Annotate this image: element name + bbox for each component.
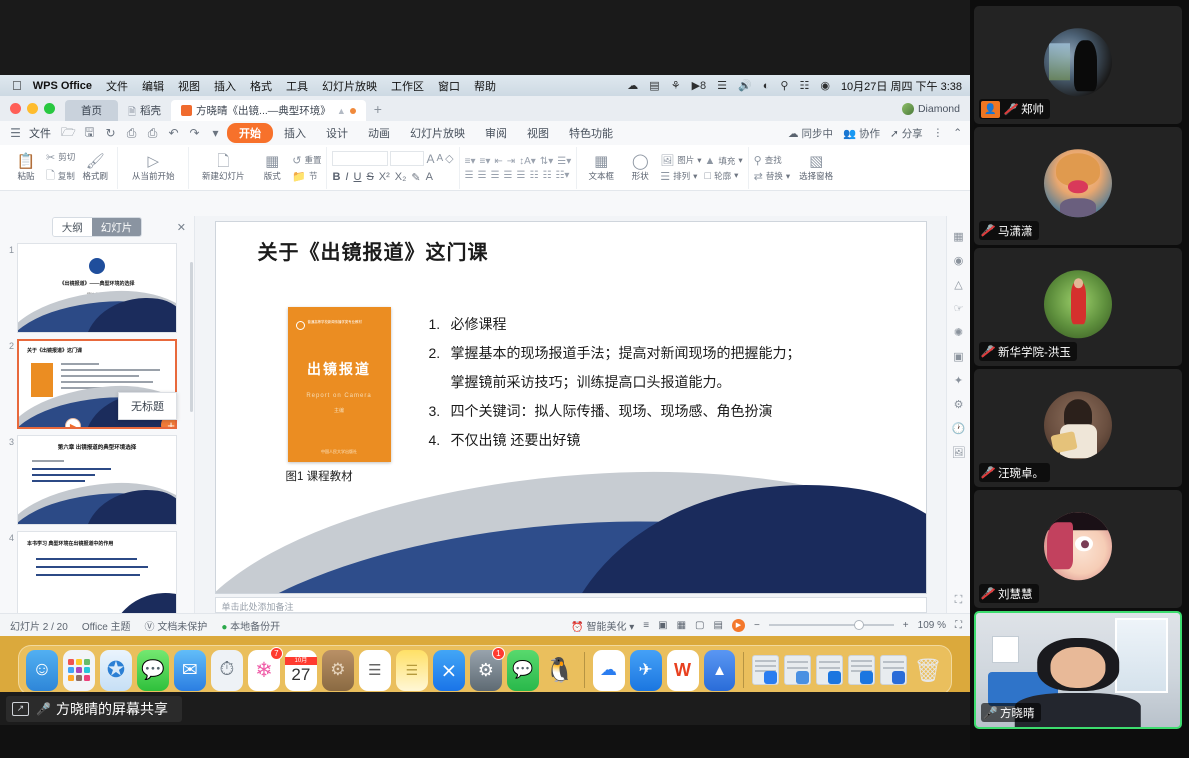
slide-number: 2 [4,339,14,429]
tencent-meeting-icon[interactable]: ▲ [704,650,736,691]
menubar-item-view[interactable]: 视图 [178,78,200,94]
new-slide-icon: 🗋 [217,154,229,169]
reset-label: 重置 [304,154,321,166]
brush-icon: 🖌 [86,154,105,169]
play-icon[interactable]: ▶ [65,418,81,429]
volume-icon[interactable]: 🔊 [738,79,752,92]
tab-outline[interactable]: 大纲 [53,218,92,236]
calendar-icon[interactable]: 10月 27 [285,650,317,691]
microphone-on-icon: 🎤 [983,706,996,720]
section-icon: 📁 [292,170,306,183]
redo-icon[interactable]: ↷ [185,126,204,140]
from-current-slide-button[interactable]: ▷ 从当前开始 [123,154,183,182]
slide-count-label: 幻灯片 2 / 20 [10,618,68,633]
participant-tile-4[interactable]: 🎤 汪琬卓。 [974,369,1182,487]
file-menu-button[interactable]: ☰ 文件 [6,125,51,141]
presenter-view-icon[interactable]: ▤ [714,620,723,631]
textbook-image[interactable]: 普通高等学校新闻传播学类专业教材 出镜报道 Report on Camera 主… [288,307,391,462]
participant-tile-2[interactable]: 🎤 马潇潇 [974,127,1182,245]
textbox-label: 文本框 [588,170,614,182]
bullet-number: 3. [429,397,446,426]
tab-home[interactable]: 首页 [65,100,118,121]
zoom-level-label: 109 % [918,620,946,631]
book-publisher: 中国人民大学出版社 [288,449,391,455]
ribbon-tab-strip[interactable]: ☰ 文件 🗁 🖫 ↻ ⎙ ⎙ ↶ ↷ ▾ 开始 插入 设计 动画 幻灯片放映 审… [0,121,970,145]
new-slide-label: 新建幻灯片 [202,170,245,182]
convert-icon[interactable]: ☷▾ [555,170,569,181]
backup-label: 本地备份开 [230,622,280,633]
thumbnail-list[interactable]: 1 《出镜报道》——典型环境的选择 郑帅 王晓晴 [0,238,194,613]
protection-label: 文档未保护 [157,622,207,633]
thumbnail-slide-4[interactable]: 4 本书学习 典型环境在出镜报道中的作用 [0,528,194,613]
list-item: 1. 必修课程 [429,310,909,339]
textbox-button[interactable]: ▦ 文本框 [582,154,620,182]
close-window-button[interactable] [10,103,21,114]
avatar [1044,270,1112,338]
ribbon-group-clipboard: 📋 粘贴 ✂剪切 🗋复制 🖌 格式刷 [4,147,118,189]
wps-office-icon[interactable]: W [667,650,699,691]
speaker-notes-area[interactable]: 单击此处添加备注 [215,597,927,613]
picture-button[interactable]: 🖼图片▾ [660,154,701,167]
qq-icon[interactable]: 🐧 [544,650,576,691]
justify-icon[interactable]: ☰ [504,170,513,181]
outline-button[interactable]: □轮廓▾ [704,170,742,182]
control-center-icon[interactable]: ☷ [799,79,809,92]
slide-canvas-area: 关于《出镜报道》这门课 普通高等学校新闻传播学类专业教材 出镜报道 Report… [195,216,946,613]
decrease-font-icon[interactable]: A [436,153,443,164]
launchpad-icon[interactable] [63,650,95,691]
strikethrough-button[interactable]: S [366,171,373,183]
align-right-icon[interactable]: ☰ [491,170,500,181]
open-icon[interactable]: 🗁 [59,123,78,144]
participant-tile-self[interactable]: 🎤 方晓晴 [974,611,1182,729]
sync-status-button[interactable]: ☁ 同步中 [788,126,833,141]
zoom-slider[interactable] [769,624,894,626]
play-badge-icon[interactable]: ▶8 [692,79,707,92]
participant-name-row: 🎤 马潇潇 [979,221,1039,240]
trash-icon[interactable]: 🗑 [912,650,944,691]
menubar-item-workspace[interactable]: 工作区 [391,78,424,94]
shape-label: 形状 [632,170,649,182]
find-button[interactable]: ⚲查找 [754,154,791,167]
right-vertical-toolbar[interactable]: ▦ ◉ △ ☞ ✺ ▣ ✦ ⚙ 🕐 🖼 ⛶ [946,216,970,613]
columns-icon[interactable]: ☷ [529,170,538,181]
media-icon[interactable]: 🖼 [952,446,966,459]
app-store-icon[interactable]: ⨯ [433,650,465,691]
play-circle-icon: ▷ [147,154,159,169]
font-size-input[interactable] [390,151,424,166]
thumbnail-slide-3[interactable]: 3 第六章 出镜报道的典型环境选择 [0,432,194,528]
menubar-item-insert[interactable]: 插入 [214,78,236,94]
ribbon-tab-slideshow[interactable]: 幻灯片放映 [401,123,474,143]
decrease-indent-icon[interactable]: ⇤ [494,156,502,167]
superscript-icon[interactable]: X² [379,171,390,183]
tab-presentation[interactable]: 方晓晴《出镜...—典型环境》 ▲ [171,100,366,121]
layout-label: 版式 [264,170,281,182]
participant-tile-3[interactable]: 🎤 新华学院-洪玉 [974,248,1182,366]
account-area[interactable]: Diamond [902,103,970,115]
slide-canvas[interactable]: 关于《出镜报道》这门课 普通高等学校新闻传播学类专业教材 出镜报道 Report… [215,221,927,594]
slide-title[interactable]: 关于《出镜报道》这门课 [258,236,489,265]
slide-preview[interactable]: 《出镜报道》——典型环境的选择 郑帅 王晓晴 [17,243,177,333]
participant-tile-5[interactable]: 🎤 刘慧慧 [974,490,1182,608]
new-slide-button[interactable]: 🗋 新建幻灯片 [194,154,252,182]
thumb-title: 本书学习 典型环境在出镜报道中的作用 [27,540,113,547]
outline-view-icon[interactable]: ≡ [643,620,649,631]
ribbon-tab-insert[interactable]: 插入 [275,123,315,143]
menubar-clock: 10月27日 周四 下午 3:38 [841,78,962,94]
design-ideas-icon[interactable]: △ [954,278,962,291]
replace-button[interactable]: ⇄替换▾ [754,170,791,183]
smartart-icon[interactable]: ☷ [542,170,551,181]
participant-name: 马潇潇 [998,223,1033,239]
bullet-list-icon[interactable]: ≡▾ [465,156,476,167]
share-label: 方晓晴的屏幕共享 [56,699,168,719]
line-spacing-icon[interactable]: ↕A▾ [519,156,536,167]
wechat-icon[interactable]: 💬 [507,650,539,691]
dropbox-icon[interactable]: ⚘ [671,79,681,92]
share-button[interactable]: ➚ 分享 [890,126,923,141]
wps-office-window: 首页 🗎 稻壳 方晓晴《出镜...—典型环境》 ▲ + Diamond [0,96,970,636]
thumbnail-slide-2[interactable]: 2 关于《出镜报道》这门课 [0,336,194,432]
text-highlight-icon[interactable]: ✎ [411,171,420,184]
zoom-in-button[interactable]: + [903,620,909,631]
avatar [1044,512,1112,580]
figure-caption[interactable]: 图1 课程教材 [286,468,353,484]
participant-name-row: 🎤 刘慧慧 [979,584,1039,603]
increase-font-icon[interactable]: A [426,152,434,166]
tab-unsaved-dot[interactable] [350,108,356,114]
menubar-item-edit[interactable]: 编辑 [142,78,164,94]
underline-button[interactable]: U [353,171,361,183]
book-author: 主编 [288,407,391,414]
badge: 7 [270,647,283,660]
increase-indent-icon[interactable]: ⇥ [507,156,515,167]
format-painter-button[interactable]: 🖌 格式刷 [78,154,112,182]
arrange-button[interactable]: ☰排列▾ [660,170,701,183]
font-color-icon[interactable]: A [426,171,433,183]
picture-icon: 🖼 [660,154,674,167]
format-painter-label: 格式刷 [82,170,108,182]
messages-icon[interactable]: 💬 [137,650,169,691]
duplicate-icon[interactable]: ▦ [953,230,963,243]
search-icon: ⚲ [754,154,762,167]
outline-label: 轮廓 [714,170,731,182]
minimize-window-button[interactable] [27,103,38,114]
play-icon[interactable]: ▶ [732,619,745,632]
fit-to-window-icon[interactable]: ⛶ [955,620,962,631]
menubar-item-window[interactable]: 窗口 [438,78,460,94]
selection-pane-label: 选择窗格 [799,170,833,182]
system-preferences-icon[interactable]: ⚙1 [470,650,502,691]
align-center-icon[interactable]: ☰ [478,170,487,181]
animation-icon[interactable]: ☞ [954,302,964,315]
macos-dock[interactable]: ☺ ✪ 💬 ✉ ⏱ ❄7 10月 27 ⚙ ☰ ☰ [18,645,952,695]
siri-shortcuts-icon[interactable]: ⏱ [211,650,243,691]
selection-pane-button[interactable]: ▧ 选择窗格 [793,154,839,182]
avatar [1044,149,1112,217]
copy-label: 复制 [58,170,75,182]
selection-pane-icon: ▧ [809,154,823,169]
participant-name: 郑帅 [1021,101,1044,117]
siri-icon[interactable]: ◉ [820,79,830,92]
paste-label: 粘贴 [17,170,34,182]
slide-number: 1 [4,243,14,333]
fill-button[interactable]: ▲填充▾ [704,155,742,167]
number-list-icon[interactable]: ≡▾ [479,156,490,167]
macos-menubar[interactable]:  WPS Office 文件 编辑 视图 插入 格式 工具 幻灯片放映 工作区… [0,75,970,96]
search-icon[interactable]: ⚲ [780,79,788,92]
minimized-window-4[interactable] [848,655,875,685]
menubar-item-format[interactable]: 格式 [250,78,272,94]
outline-icon: □ [704,170,711,182]
tab-docer-label: 稻壳 [140,103,161,118]
normal-view-icon[interactable]: ▣ [658,620,667,631]
slide-preview[interactable]: 本书学习 典型环境在出镜报道中的作用 [17,531,177,613]
dingtalk-icon[interactable]: ✈ [630,650,662,691]
microphone-off-icon: 🎤 [1004,102,1017,116]
replace-icon: ⇄ [754,170,763,183]
sync-icon[interactable]: ↻ [101,126,120,140]
bullet-number: 4. [429,426,446,455]
minimized-window-1[interactable] [752,655,779,685]
notes-icon[interactable]: ☰ [396,650,428,691]
ribbon-tab-view[interactable]: 视图 [518,123,558,143]
wifi-icon[interactable]: ◐ [763,80,770,92]
dock-separator [743,652,744,688]
participant-name: 新华学院-洪玉 [998,344,1071,360]
participant-name: 汪琬卓。 [998,465,1044,481]
bullet-text-line2: 掌握镜前采访技巧；训练提高口头报道能力。 [429,368,909,397]
book-header-text: 普通高等学校新闻传播学类专业教材 [308,321,385,328]
account-name: Diamond [918,103,960,115]
find-label: 查找 [765,154,782,166]
document-protection-status[interactable]: Ⓥ 文档未保护 [145,618,208,633]
list-buttons-row: ≡▾ ≡▾ ⇤ ⇥ ↕A▾ ⇅▾ ☰▾ [465,156,572,167]
ribbon-group-edit: ⚲查找 ⇄替换▾ ▧ 选择窗格 [749,147,845,189]
tab-slides[interactable]: 幻灯片 [92,218,142,236]
share-label: 分享 [902,128,923,140]
list-item: 4. 不仅出镜 还要出好镜 [429,426,909,455]
finder-icon[interactable]: ☺ [26,650,58,691]
wps-tabbar: 首页 🗎 稻壳 方晓晴《出镜...—典型环境》 ▲ + Diamond [0,96,970,121]
participant-name: 刘慧慧 [998,586,1033,602]
screen-share-bar: ↗ 🎤 方晓晴的屏幕共享 [0,692,970,725]
window-background [1115,618,1168,693]
menubar-item-tools[interactable]: 工具 [286,78,308,94]
shared-screen-region:  WPS Office 文件 编辑 视图 插入 格式 工具 幻灯片放映 工作区… [0,0,970,725]
safari-icon[interactable]: ✪ [100,650,132,691]
app-root:  WPS Office 文件 编辑 视图 插入 格式 工具 幻灯片放映 工作区… [0,0,1189,758]
participant-name-row: 👤 🎤 郑帅 [979,99,1050,119]
book-title: 出镜报道 [288,359,391,379]
paste-icon: 📋 [17,154,36,169]
shape-icon: ◯ [632,154,649,169]
bold-button[interactable]: B [332,171,340,183]
italic-button[interactable]: I [345,171,348,183]
align-text-icon[interactable]: ☰▾ [557,156,571,167]
cloud-sync-icon[interactable]: ☁ [627,79,638,92]
calendar-day: 27 [291,666,310,683]
slide-number: 4 [4,531,14,613]
photos-icon[interactable]: ❄7 [248,650,280,691]
file-menu-label: 文件 [29,125,51,141]
copy-button[interactable]: 🗋复制 [46,167,75,186]
slide-sorter-icon[interactable]: ▦ [677,620,686,631]
ribbon-tab-design[interactable]: 设计 [317,123,357,143]
list-item: 3. 四个关键词：拟人际传播、现场、现场感、角色扮演 [429,397,909,426]
bullet-text: 必修课程 [451,310,507,339]
zoom-out-button[interactable]: − [754,620,760,631]
avatar [1044,28,1112,96]
new-tab-button[interactable]: + [374,101,382,117]
customize-icon[interactable]: ▾ [206,126,225,140]
menubar-app-name: WPS Office [33,80,92,92]
print-icon[interactable]: ⎙ [122,126,141,141]
list-item: 2. 掌握基本的现场报道手法；提高对新闻现场的把握能力； 掌握镜前采访技巧；训练… [429,339,909,397]
hamburger-icon: ☰ [6,126,25,140]
thumbnail-slide-1[interactable]: 1 《出镜报道》——典型环境的选择 郑帅 王晓晴 [0,240,194,336]
collaborate-button[interactable]: 👥 协作 [843,126,880,141]
mail-icon[interactable]: ✉ [174,650,206,691]
zoom-slider-knob[interactable] [854,620,864,630]
baidu-netdisk-icon[interactable]: ☁ [593,650,625,691]
ribbon-tab-features[interactable]: 特色功能 [560,123,622,143]
print-preview-icon[interactable]: ⎙ [143,126,162,141]
clear-format-icon[interactable]: ◇ [445,152,453,165]
ribbon-tab-review[interactable]: 审阅 [476,123,516,143]
ribbon-group-insert: ▦ 文本框 ◯ 形状 🖼图片▾ ☰排列▾ ▲填充▾ □轮廓▾ [577,147,748,189]
system-prefs-old-icon[interactable]: ⚙ [322,650,354,691]
layout-icon: ▦ [265,154,279,169]
menubar-item-file[interactable]: 文件 [106,78,128,94]
badge: 1 [492,647,505,660]
tab-presentation-label: 方晓晴《出镜...—典型环境》 [196,103,331,118]
tooltip: 无标题 [118,392,177,420]
arrange-icon: ☰ [660,170,670,183]
thumbnail-panel-header: 大纲 幻灯片 ✕ [0,216,194,238]
list-icon[interactable]: ☰ [717,79,727,92]
copy-icon: 🗋 [46,167,55,186]
bullet-text: 四个关键词：拟人际传播、现场、现场感、角色扮演 [451,397,773,426]
ribbon-tab-start[interactable]: 开始 [227,123,273,143]
beautify-label: 智能美化 [586,622,626,633]
bullet-text: 不仅出镜 还要出好镜 [451,426,581,455]
cut-label: 剪切 [58,151,75,163]
magic-icon[interactable]: ✦ [954,374,963,387]
participant-name-row: 🎤 新华学院-洪玉 [979,342,1077,361]
doc-icon: 🗎 [128,105,136,116]
participant-name-row: 🎤 汪琬卓。 [979,463,1050,482]
layout-button[interactable]: ▦ 版式 [255,154,289,182]
ribbon-tab-animation[interactable]: 动画 [359,123,399,143]
subscript-icon[interactable]: X₂ [395,171,407,183]
reading-view-icon[interactable]: ▢ [695,620,704,631]
reset-icon: ↺ [292,154,301,167]
university-logo-icon [89,258,105,274]
distribute-icon[interactable]: ☰ [517,170,526,181]
wps-ai-icon[interactable]: ✺ [954,326,963,339]
bullet-number: 1. [429,310,446,339]
shape-fill-icon[interactable]: ◉ [954,254,964,267]
backup-status[interactable]: ● 本地备份开 [221,618,280,633]
chevron-up-icon[interactable]: ▲ [337,106,346,116]
shape-button[interactable]: ◯ 形状 [623,154,657,182]
dock-separator [584,652,585,688]
history-icon[interactable]: 🕐 [952,422,966,435]
picture-frame-background [992,636,1019,663]
smart-beautify-button[interactable]: ⏰ 智能美化 ▾ [571,618,634,633]
desktop-top-band [0,0,970,75]
adjust-icon[interactable]: ⚙ [954,398,964,411]
align-left-icon[interactable]: ☰ [465,170,474,181]
fill-icon: ▲ [704,155,715,167]
maximize-window-button[interactable] [44,103,55,114]
menubar-item-slideshow[interactable]: 幻灯片放映 [322,78,377,94]
window-traffic-lights[interactable] [0,103,65,114]
menubar-item-help[interactable]: 帮助 [474,78,496,94]
fill-label: 填充 [718,155,735,167]
from-current-label: 从当前开始 [132,170,175,182]
more-dots-icon[interactable]: ⋮ [933,127,944,139]
thumb-title: 第六章 出镜报道的典型环境选择 [18,443,176,451]
apple-icon[interactable]:  [12,79,22,92]
reminders-icon[interactable]: ☰ [359,650,391,691]
section-button[interactable]: 📁节 [292,170,321,183]
view-mode-toggle[interactable]: 大纲 幻灯片 [52,217,143,237]
microphone-off-icon: 🎤 [981,345,994,359]
avatar [1044,391,1112,459]
participant-tile-1[interactable]: 👤 🎤 郑帅 [974,6,1182,124]
minimized-window-2[interactable] [784,655,811,685]
undo-icon[interactable]: ↶ [164,126,183,140]
bullet-number: 2. [429,339,446,368]
slide-preview[interactable]: 第六章 出镜报道的典型环境选择 [17,435,177,525]
minimized-window-5[interactable] [880,655,907,685]
theme-label[interactable]: Office 主题 [82,618,131,633]
reset-button[interactable]: ↺重置 [292,154,321,167]
chevron-up-icon[interactable]: ⌃ [953,127,962,139]
arrange-label: 排列 [673,170,690,182]
wps-icon[interactable]: ▤ [649,79,659,92]
ribbon-group-paragraph: ≡▾ ≡▾ ⇤ ⇥ ↕A▾ ⇅▾ ☰▾ ☰ ☰ ☰ ☰ [460,147,578,189]
slide-number: 3 [4,435,14,525]
scissors-icon: ✂ [46,151,55,164]
thumb-title: 关于《出镜报道》这门课 [27,347,82,354]
minimized-window-3[interactable] [816,655,843,685]
publisher-seal-icon [296,321,305,330]
text-direction-icon[interactable]: ⇅▾ [540,156,553,167]
book-english-title: Report on Camera [288,393,391,399]
font-name-input[interactable] [332,151,388,166]
fullscreen-icon[interactable]: ⛶ [955,594,963,607]
microphone-on-icon[interactable]: 🎤 [36,702,49,716]
tab-docer[interactable]: 🗎 稻壳 [118,100,171,121]
play-badge-count: 8 [700,80,706,92]
slide-size-icon[interactable]: ▣ [953,350,963,363]
share-status-pill[interactable]: ↗ 🎤 方晓晴的屏幕共享 [6,696,182,722]
cut-button[interactable]: ✂剪切 [46,151,75,164]
picture-label: 图片 [677,154,694,166]
save-icon[interactable]: 🖫 [80,123,99,144]
collaborate-label: 协作 [859,128,880,140]
participant-name: 方晓晴 [1000,705,1035,721]
paste-button[interactable]: 📋 粘贴 [9,154,43,182]
close-icon[interactable]: ✕ [177,221,186,234]
slide-bullet-list[interactable]: 1. 必修课程 2. 掌握基本的现场报道手法；提高对新闻现场的把握能力； 掌握镜… [429,310,909,455]
tab-home-label: 首页 [81,103,102,118]
ribbon-group-font: A A ◇ B I U S X² X₂ ✎ A [327,147,459,189]
